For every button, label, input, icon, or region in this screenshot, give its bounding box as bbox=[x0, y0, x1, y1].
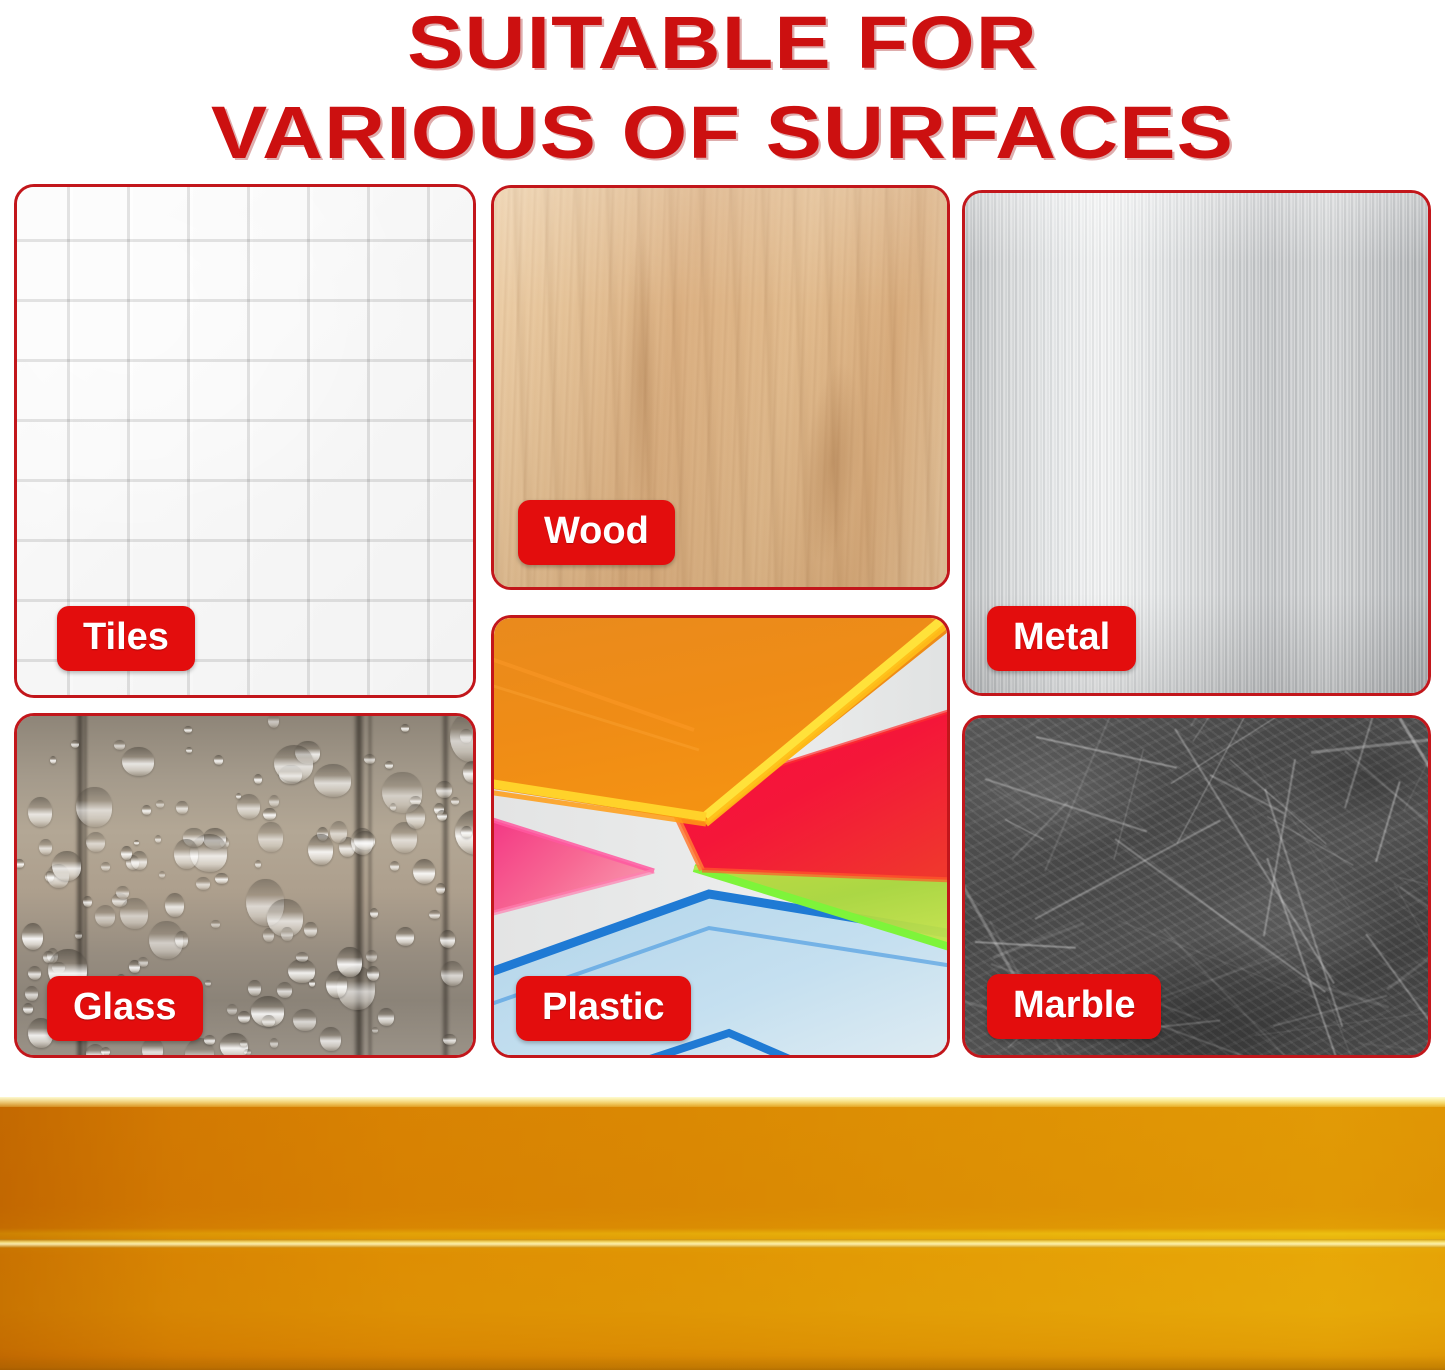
water-droplet bbox=[270, 1038, 277, 1047]
water-droplet bbox=[248, 980, 261, 996]
page-title: SUITABLE FOR VARIOUS OF SURFACES bbox=[0, 0, 1445, 176]
water-droplet bbox=[320, 1027, 341, 1051]
marble-vein bbox=[1387, 908, 1431, 991]
title-line-1: SUITABLE FOR bbox=[0, 6, 1445, 80]
water-droplet bbox=[214, 755, 222, 765]
badge-plastic: Plastic bbox=[516, 976, 691, 1041]
water-droplet bbox=[50, 756, 56, 764]
water-droplet bbox=[401, 724, 409, 731]
water-droplet bbox=[211, 920, 220, 929]
water-droplet bbox=[156, 800, 164, 808]
water-droplet bbox=[254, 774, 262, 783]
water-droplet bbox=[450, 713, 476, 762]
squeegee-top-highlight bbox=[0, 1097, 1445, 1107]
water-droplet bbox=[122, 747, 154, 776]
badge-tiles: Tiles bbox=[57, 606, 195, 671]
marble-vein-primary bbox=[1114, 838, 1326, 993]
water-droplet bbox=[378, 1008, 394, 1026]
water-droplet bbox=[364, 754, 375, 763]
water-droplet bbox=[437, 810, 447, 821]
water-droplet bbox=[385, 761, 393, 769]
water-droplet bbox=[258, 822, 283, 852]
water-droplet bbox=[83, 896, 92, 907]
marble-vein bbox=[1375, 781, 1401, 863]
water-droplet bbox=[429, 910, 439, 919]
marble-vein bbox=[1025, 715, 1158, 731]
water-droplet bbox=[237, 794, 260, 818]
water-droplet bbox=[176, 801, 187, 814]
water-droplet bbox=[370, 908, 379, 918]
water-droplet bbox=[255, 860, 262, 868]
water-droplet bbox=[304, 922, 316, 937]
marble-vein bbox=[993, 921, 1085, 957]
water-droplet bbox=[215, 873, 228, 885]
marble-vein bbox=[1011, 801, 1068, 859]
marble-vein bbox=[1036, 736, 1177, 769]
water-droplet bbox=[204, 1035, 215, 1045]
water-droplet bbox=[134, 840, 139, 845]
marble-vein bbox=[1358, 1042, 1418, 1050]
water-droplet bbox=[337, 947, 362, 977]
water-droplet bbox=[14, 859, 24, 868]
squeegee-crease-line bbox=[0, 1239, 1445, 1248]
water-droplet bbox=[76, 787, 112, 828]
water-droplet bbox=[22, 923, 43, 949]
water-droplet bbox=[159, 871, 165, 878]
squeegee-bar bbox=[0, 1097, 1445, 1370]
marble-vein-primary bbox=[1263, 759, 1296, 937]
water-droplet bbox=[314, 764, 351, 797]
water-droplet bbox=[263, 808, 276, 820]
water-droplet bbox=[114, 740, 125, 750]
badge-metal: Metal bbox=[987, 606, 1136, 671]
water-droplet bbox=[240, 1040, 247, 1048]
water-droplet bbox=[28, 966, 41, 979]
water-droplet bbox=[131, 851, 147, 869]
water-droplet bbox=[274, 745, 314, 781]
water-droplet bbox=[262, 1015, 276, 1027]
water-droplet bbox=[95, 905, 115, 926]
water-droplet bbox=[296, 952, 308, 962]
water-droplet bbox=[390, 861, 400, 871]
surface-card-glass: Glass bbox=[14, 713, 476, 1058]
water-droplet bbox=[238, 1011, 250, 1023]
water-droplet bbox=[451, 797, 459, 805]
water-droplet bbox=[25, 986, 38, 1001]
marble-vein bbox=[1272, 994, 1387, 1026]
water-droplet bbox=[263, 928, 274, 942]
surface-card-marble: Marble bbox=[962, 715, 1431, 1058]
water-droplet bbox=[440, 930, 455, 948]
water-droplet bbox=[23, 1003, 33, 1014]
water-droplet bbox=[436, 883, 445, 894]
water-droplet bbox=[71, 740, 79, 748]
water-droplet bbox=[129, 960, 139, 973]
squeegee-bar-body bbox=[0, 1097, 1445, 1370]
badge-glass: Glass bbox=[47, 976, 203, 1041]
water-droplet bbox=[461, 826, 472, 838]
water-droplet bbox=[372, 1027, 377, 1033]
water-droplet bbox=[28, 797, 52, 827]
water-droplet bbox=[293, 1009, 316, 1031]
marble-vein bbox=[1365, 933, 1431, 1058]
water-droplet bbox=[396, 927, 414, 946]
water-droplet bbox=[116, 886, 129, 899]
water-droplet bbox=[281, 927, 293, 942]
water-droplet bbox=[227, 1004, 237, 1014]
marble-vein bbox=[994, 788, 1040, 818]
water-droplet bbox=[39, 839, 52, 855]
water-droplet bbox=[441, 961, 463, 985]
water-droplet bbox=[351, 828, 373, 855]
water-droplet bbox=[244, 1049, 250, 1055]
squeegee-bottom-shadow bbox=[0, 1356, 1445, 1370]
badge-marble: Marble bbox=[987, 974, 1161, 1039]
water-droplet bbox=[436, 781, 452, 798]
water-droplet bbox=[330, 821, 347, 843]
water-droplet bbox=[366, 950, 377, 962]
water-droplet bbox=[367, 966, 379, 980]
water-droplet bbox=[86, 832, 105, 852]
water-droplet bbox=[184, 726, 192, 733]
water-droplet bbox=[308, 834, 333, 865]
water-droplet bbox=[120, 898, 148, 930]
marble-vein-primary bbox=[985, 778, 1147, 833]
surface-card-plastic: Plastic bbox=[491, 615, 950, 1058]
marble-vein bbox=[1232, 727, 1350, 908]
water-droplet bbox=[175, 931, 189, 948]
surface-card-metal: Metal bbox=[962, 190, 1431, 696]
surface-card-tiles: Tiles bbox=[14, 184, 476, 698]
water-droplet bbox=[406, 804, 426, 829]
water-droplet bbox=[52, 851, 81, 880]
water-droplet bbox=[463, 761, 476, 783]
water-droplet bbox=[101, 862, 110, 871]
water-droplet bbox=[121, 846, 132, 860]
water-droplet bbox=[165, 893, 184, 917]
water-droplet bbox=[174, 839, 198, 869]
water-droplet bbox=[269, 795, 280, 807]
water-droplet bbox=[277, 982, 293, 998]
surface-card-wood: Wood bbox=[491, 185, 950, 590]
water-droplet bbox=[142, 805, 151, 816]
marble-vein bbox=[1209, 774, 1284, 814]
water-droplet bbox=[186, 747, 192, 754]
badge-wood: Wood bbox=[518, 500, 675, 565]
water-droplet bbox=[413, 859, 436, 884]
title-line-2: VARIOUS OF SURFACES bbox=[0, 96, 1445, 170]
water-droplet bbox=[101, 1047, 111, 1056]
water-droplet bbox=[155, 835, 162, 843]
water-droplet bbox=[196, 877, 210, 890]
water-droplet bbox=[268, 713, 280, 728]
marble-vein-primary bbox=[1174, 729, 1335, 985]
water-droplet bbox=[309, 979, 315, 987]
water-droplet bbox=[443, 1034, 455, 1045]
marble-vein-primary bbox=[1034, 820, 1220, 921]
water-droplet bbox=[75, 931, 82, 940]
water-droplet bbox=[205, 980, 211, 987]
